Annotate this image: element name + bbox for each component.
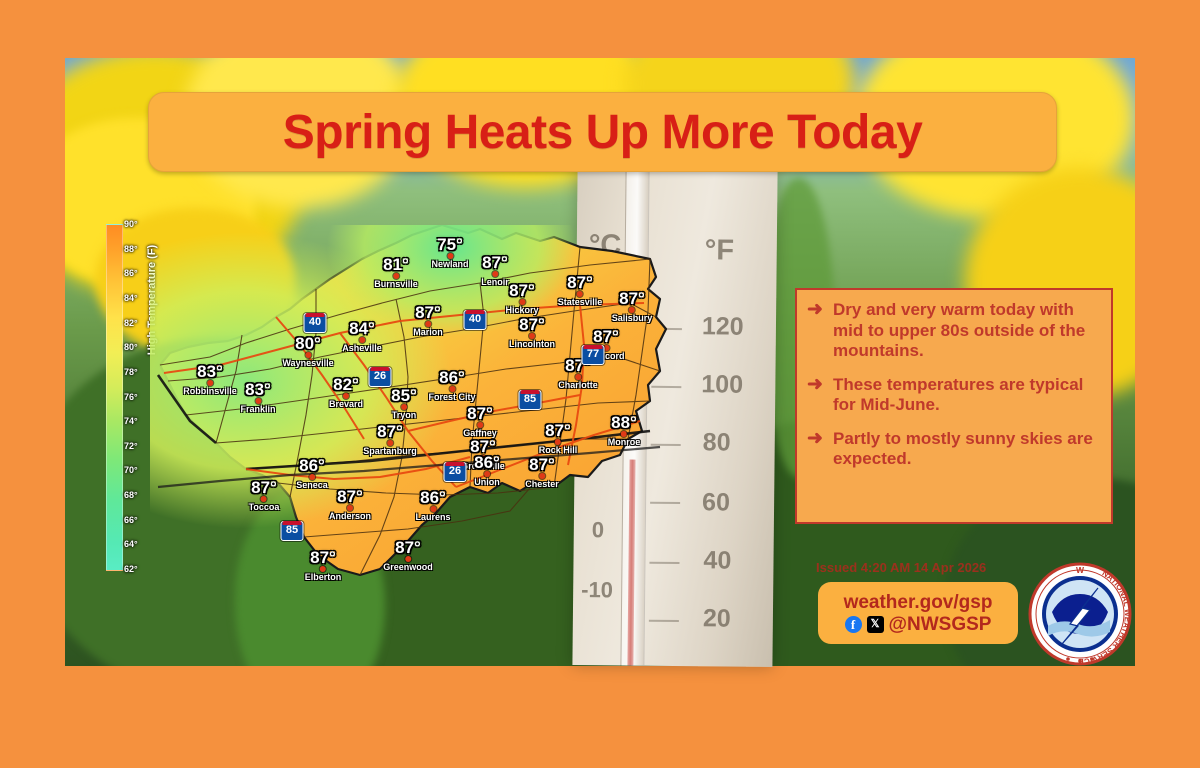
temperature-map: 75°Newland81°Burnsville87°Lenoir87°Hicko… [150,225,670,595]
city-temperature: 87° [612,291,653,306]
city-name: Newland [431,260,468,269]
city-temperature: 83° [240,382,275,397]
city-temperature-label: 87°Rock Hill [539,423,578,455]
legend-tick: 90° [124,219,138,229]
city-temperature: 87° [588,329,625,344]
interstate-shield-icon: 77 [582,345,605,365]
city-name: Lincolnton [509,340,555,349]
interstate-shield-icon: 40 [464,310,487,330]
forecast-bullet: ➜Partly to mostly sunny skies are expect… [807,429,1099,470]
city-name: Spartanburg [363,447,417,456]
forecast-bullet-text: These temperatures are typical for Mid-J… [833,375,1099,416]
city-temperature: 83° [183,364,237,379]
city-temperature: 75° [431,237,468,252]
city-temperature-label: 86°Union [474,455,500,487]
city-temperature: 87° [463,406,497,421]
city-temperature: 87° [481,255,509,270]
city-name: Laurens [415,513,450,522]
legend-tick: 76° [124,392,138,402]
city-name: Marion [413,328,443,337]
arrow-icon: ➜ [807,429,833,470]
city-name: Elberton [305,573,342,582]
city-temperature-label: 87°Salisbury [612,291,653,323]
city-temperature: 82° [329,377,363,392]
city-name: Toccoa [249,503,280,512]
city-temperature-label: 83°Robbinsville [183,364,237,396]
city-temperature: 87° [509,317,555,332]
city-name: Charlotte [558,381,598,390]
city-temperature: 87° [539,423,578,438]
social-panel[interactable]: weather.gov/gsp f 𝕏 @NWSGSP [818,582,1018,644]
city-temperature-label: 87°Gaffney [463,406,497,438]
forecast-bullet-text: Partly to mostly sunny skies are expecte… [833,429,1099,470]
city-name: Waynesville [282,359,333,368]
city-temperature-label: 80°Waynesville [282,336,333,368]
city-name: Burnsville [374,280,418,289]
legend-tick: 82° [124,318,138,328]
city-temperature-label: 86°Forest City [428,370,475,402]
city-name: Chester [525,480,559,489]
forecast-bullet-text: Dry and very warm today with mid to uppe… [833,300,1099,362]
city-temperature-label: 87°Marion [413,305,443,337]
city-temperature: 86° [415,490,450,505]
legend-tick: 68° [124,490,138,500]
city-name: Forest City [428,393,475,402]
legend-tick: 62° [124,564,138,574]
city-temperature-label: 86°Laurens [415,490,450,522]
city-name: Seneca [296,481,328,490]
social-handle[interactable]: @NWSGSP [889,615,992,635]
city-temperature: 87° [329,489,371,504]
city-temperature: 86° [428,370,475,385]
city-name: Hickory [505,306,538,315]
legend-tick: 72° [124,441,138,451]
city-temperature-label: 87°Elberton [305,550,342,582]
city-name: Statesville [558,298,603,307]
interstate-shield-icon: 26 [369,367,392,387]
city-name: Rock Hill [539,446,578,455]
legend-colorbar [106,224,123,571]
forecast-bullet: ➜Dry and very warm today with mid to upp… [807,300,1099,362]
city-temperature: 87° [525,457,559,472]
thermometer-f-tick: 80 [703,428,731,457]
city-temperature-label: 88°Monroe [608,415,641,447]
social-handles: f 𝕏 @NWSGSP [845,615,992,635]
city-temperature: 87° [383,540,433,555]
city-name: Union [474,478,500,487]
city-temperature: 80° [282,336,333,351]
legend-tick: 80° [124,342,138,352]
city-temperature-label: 83°Franklin [240,382,275,414]
legend-tick: 70° [124,465,138,475]
arrow-icon: ➜ [807,375,833,416]
city-temperature: 87° [305,550,342,565]
interstate-shield-icon: 85 [281,521,304,541]
legend-tick: 86° [124,268,138,278]
page-title: Spring Heats Up More Today [283,105,923,160]
website-link[interactable]: weather.gov/gsp [844,592,993,613]
thermometer-f-tick: 40 [703,546,731,575]
facebook-icon[interactable]: f [845,616,862,633]
interstate-shield-icon: 85 [519,390,542,410]
city-temperature-label: 81°Burnsville [374,257,418,289]
city-temperature-label: 87°Anderson [329,489,371,521]
city-temperature-label: 85°Tryon [391,388,417,420]
city-temperature-label: 82°Brevard [329,377,363,409]
legend-tick: 74° [124,416,138,426]
issued-timestamp: Issued 4:20 AM 14 Apr 2026 [816,560,986,575]
city-name: Robbinsville [183,387,237,396]
city-temperature: 84° [342,321,382,336]
city-temperature-label: 87°Lincolnton [509,317,555,349]
nws-logo: W NATIONAL WEATHER SERVICE [1028,562,1132,666]
city-temperature: 87° [505,283,538,298]
thermometer-fahrenheit-unit: °F [705,234,735,267]
city-temperature: 85° [391,388,417,403]
city-temperature-label: 87°Statesville [558,275,603,307]
legend-tick: 64° [124,539,138,549]
city-temperature-label: 87°Chester [525,457,559,489]
city-temperature: 81° [374,257,418,272]
city-temperature-label: 86°Seneca [296,458,328,490]
forecast-bullet: ➜These temperatures are typical for Mid-… [807,375,1099,416]
city-temperature: 86° [474,455,500,470]
thermometer-f-tick: 60 [702,488,730,517]
city-temperature-label: 87°Greenwood [383,540,433,572]
city-temperature: 86° [296,458,328,473]
city-name: Monroe [608,438,641,447]
city-temperature: 87° [413,305,443,320]
city-name: Salisbury [612,314,653,323]
city-temperature: 87° [249,480,280,495]
city-name: Brevard [329,400,363,409]
legend-tick: 66° [124,515,138,525]
title-banner: Spring Heats Up More Today [148,92,1057,172]
thermometer-f-tick: 120 [702,312,744,341]
thermometer-f-tick: 20 [703,604,731,633]
city-name: Franklin [240,405,275,414]
city-temperature-label: 87°Hickory [505,283,538,315]
city-name: Anderson [329,512,371,521]
interstate-shield-icon: 40 [304,313,327,333]
city-temperature-label: 87°Spartanburg [363,424,417,456]
city-temperature: 88° [608,415,641,430]
arrow-icon: ➜ [807,300,833,362]
city-temperature: 87° [461,439,505,454]
forecast-bullets-panel: ➜Dry and very warm today with mid to upp… [795,288,1113,524]
weather-graphic: °C °F 120 100 80 60 40 20 0 -10 Spring H… [0,0,1200,768]
x-twitter-icon[interactable]: 𝕏 [867,616,884,633]
legend-tick: 88° [124,244,138,254]
city-name: Asheville [342,344,382,353]
city-name: Tryon [391,411,417,420]
city-temperature-label: 75°Newland [431,237,468,269]
city-temperature-label: 84°Asheville [342,321,382,353]
city-name: Greenwood [383,563,433,572]
temperature-legend: High Temperature (F) 90°88°86°84°82°80°7… [78,218,140,578]
city-temperature: 87° [558,275,603,290]
legend-tick: 84° [124,293,138,303]
interstate-shield-icon: 26 [444,462,467,482]
legend-tick: 78° [124,367,138,377]
city-temperature-label: 87°Toccoa [249,480,280,512]
thermometer-scale-tick [649,620,679,622]
city-temperature: 87° [363,424,417,439]
thermometer-f-tick: 100 [701,370,743,399]
